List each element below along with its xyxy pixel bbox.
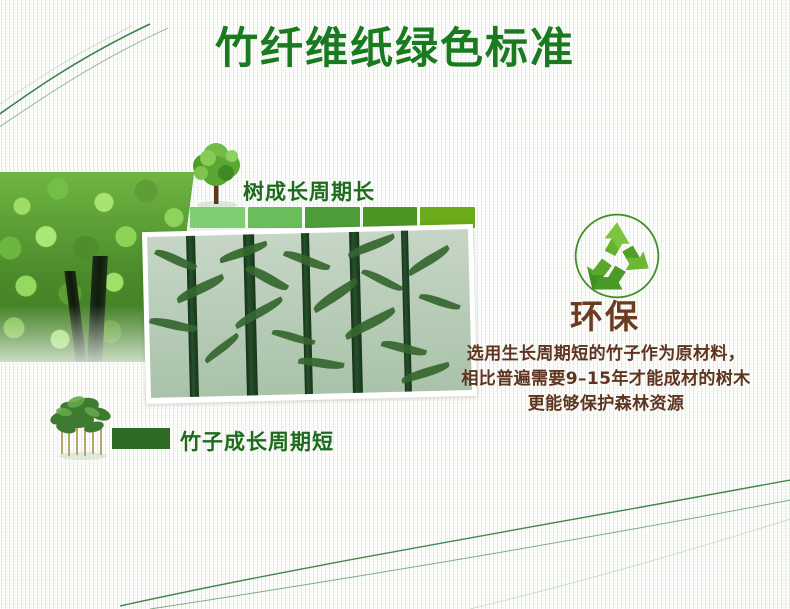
eco-description-line: 更能够保护森林资源 bbox=[440, 392, 772, 417]
growth-bar-segment bbox=[190, 207, 245, 228]
growth-bar-segment bbox=[305, 207, 360, 228]
eco-description-line: 相比普遍需要9–15年才能成材的树木 bbox=[440, 367, 772, 392]
eco-description: 选用生长周期短的竹子作为原材料， 相比普遍需要9–15年才能成材的树木 更能够保… bbox=[440, 342, 772, 417]
bamboo-leaf bbox=[361, 266, 403, 294]
bamboo-label-chip bbox=[112, 428, 170, 449]
tree-growth-label: 树成长周期长 bbox=[243, 176, 375, 206]
bamboo-leaf bbox=[405, 245, 451, 276]
bamboo-leaf bbox=[418, 290, 460, 312]
recycle-icon bbox=[573, 212, 661, 300]
bamboo-sprout-icon bbox=[46, 382, 120, 462]
bamboo-leaf bbox=[233, 296, 285, 329]
eco-heading: 环保 bbox=[500, 298, 710, 336]
page-title: 竹纤维纸绿色标准 bbox=[0, 23, 790, 75]
bamboo-culm bbox=[185, 229, 198, 398]
tree-icon bbox=[183, 140, 251, 210]
bamboo-growth-label: 竹子成长周期短 bbox=[180, 426, 334, 456]
promo-banner: 竹纤维纸绿色标准 树成长周期长 bbox=[0, 0, 790, 609]
growth-bar-segment bbox=[248, 207, 303, 228]
bamboo-photo bbox=[147, 229, 472, 398]
bamboo-leaf bbox=[203, 333, 242, 364]
eco-description-line: 选用生长周期短的竹子作为原材料， bbox=[440, 342, 772, 367]
bamboo-leaf bbox=[174, 274, 226, 304]
bamboo-photo-frame bbox=[142, 224, 477, 404]
